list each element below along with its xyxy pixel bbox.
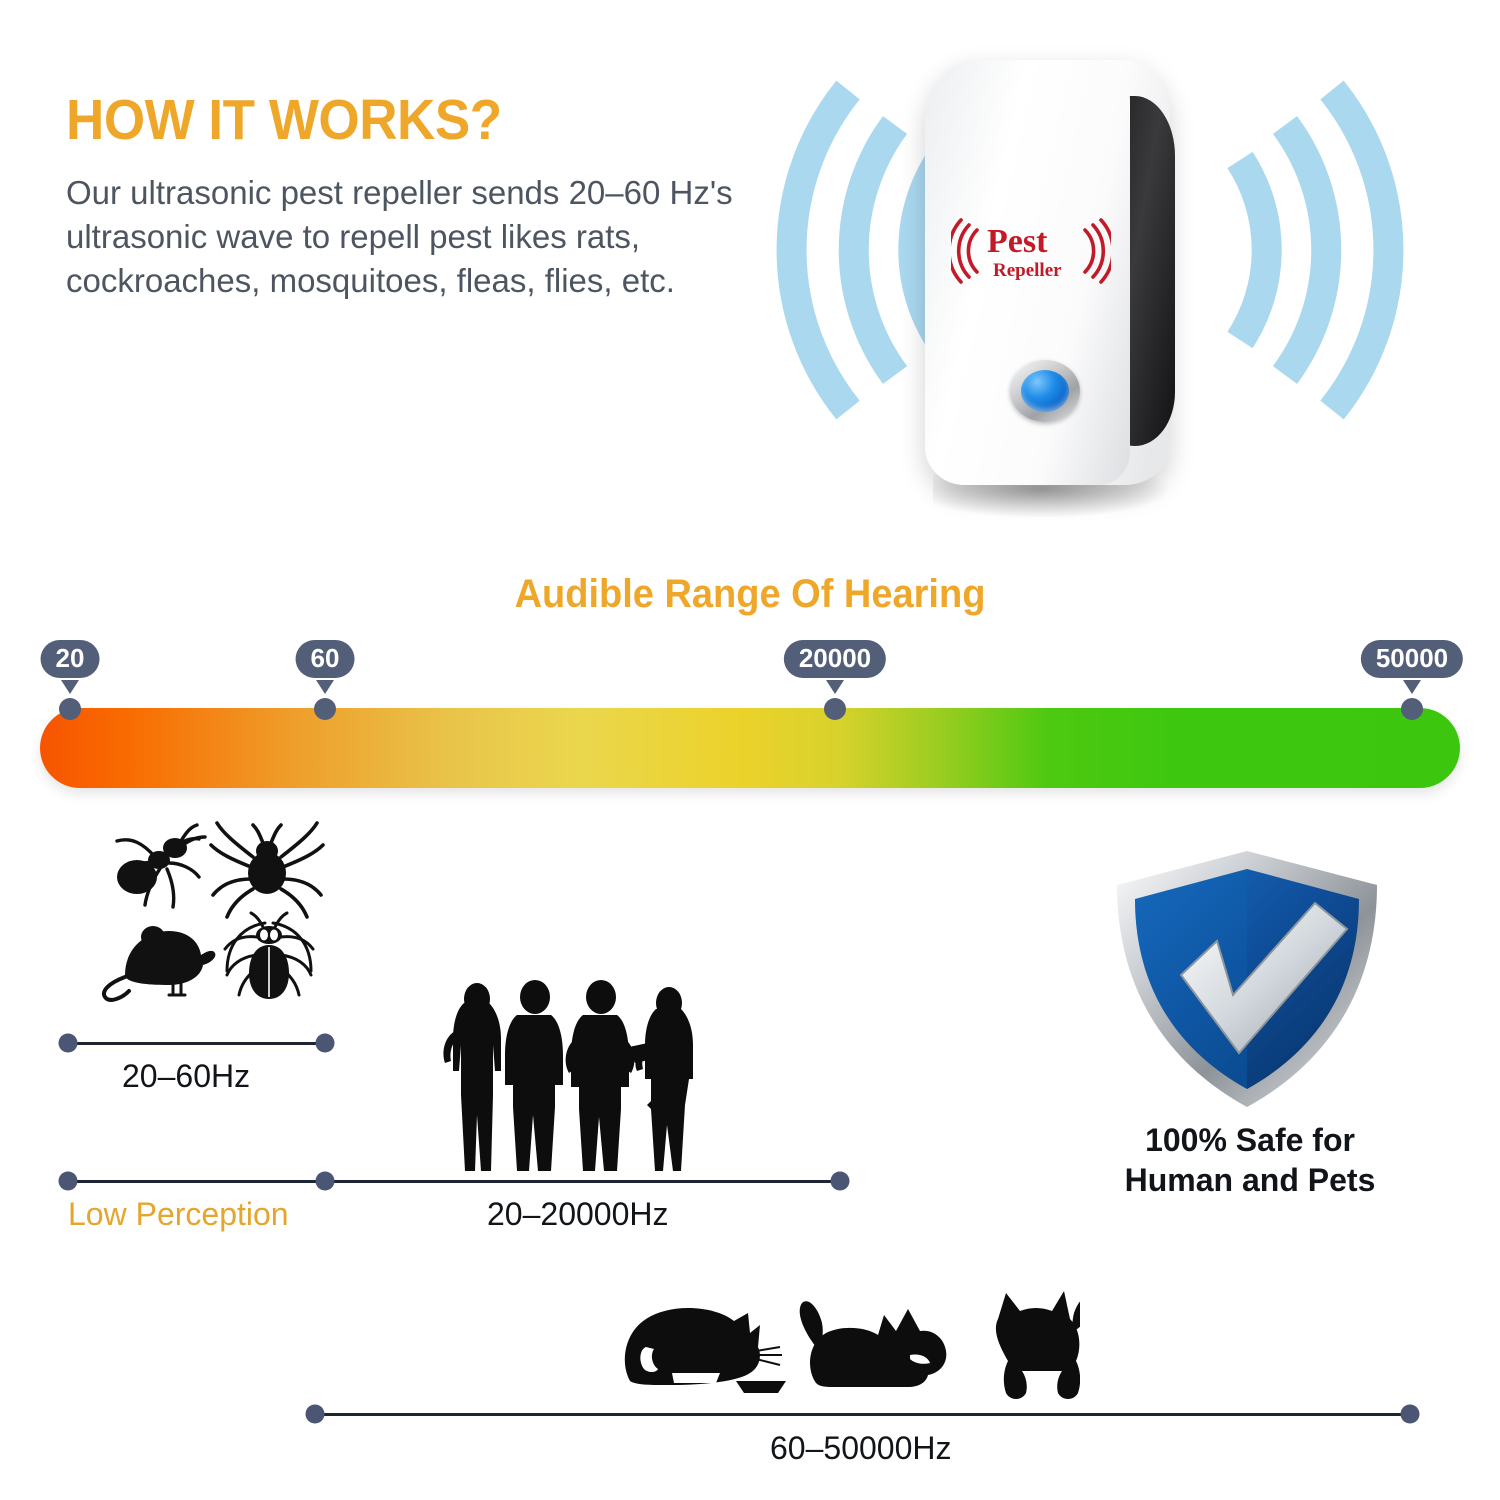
dog-lying-icon — [800, 1301, 947, 1387]
led-glass — [1021, 370, 1069, 412]
pest-repeller-logo: Pest Repeller — [951, 210, 1111, 290]
frequency-gradient-bar — [40, 708, 1460, 788]
spider-icon — [211, 823, 323, 917]
safety-line-2: Human and Pets — [1125, 1162, 1376, 1198]
mouse-icon — [104, 926, 215, 1000]
sound-wave-left-icon — [690, 40, 960, 460]
scale-tick-label: 20000 — [784, 640, 886, 678]
human-silhouettes-icon — [425, 975, 710, 1175]
ant-icon — [117, 825, 205, 907]
scale-tick-dot — [1401, 698, 1423, 720]
logo-primary-text: Pest — [987, 223, 1048, 260]
cat-standing-icon — [996, 1291, 1080, 1399]
person-woman-right — [629, 987, 693, 1171]
page-title: HOW IT WORKS? — [66, 92, 698, 149]
pest-repeller-device: Pest Repeller — [925, 60, 1190, 520]
scale-tick-pointer — [61, 680, 79, 694]
how-it-works-block: HOW IT WORKS? Our ultrasonic pest repell… — [66, 92, 746, 303]
safety-caption: 100% Safe for Human and Pets — [1060, 1120, 1440, 1200]
pet-silhouettes-icon — [610, 1285, 1080, 1410]
intro-paragraph: Our ultrasonic pest repeller sends 20–60… — [66, 171, 746, 303]
scale-tick-pointer — [826, 680, 844, 694]
scale-tick-label: 20 — [41, 640, 100, 678]
pest-silhouettes-icon — [95, 815, 345, 1005]
frequency-scale: 20 60 20000 50000 — [0, 640, 1500, 800]
cat-eating-icon — [625, 1308, 786, 1393]
person-man-center-right — [566, 980, 635, 1171]
range-label-humans: 20–20000Hz — [487, 1196, 668, 1233]
range-label-low-perception: Low Perception — [68, 1196, 289, 1233]
scale-tick-pointer — [316, 680, 334, 694]
scale-tick-label: 50000 — [1361, 640, 1463, 678]
scale-tick-dot — [824, 698, 846, 720]
scale-tick-pointer — [1403, 680, 1421, 694]
cockroach-icon — [225, 913, 313, 999]
logo-secondary-text: Repeller — [993, 260, 1062, 281]
sound-wave-right-icon — [1220, 40, 1490, 460]
person-man-center-left — [505, 980, 563, 1171]
scale-tick-label: 60 — [296, 640, 355, 678]
person-woman-left — [443, 983, 501, 1171]
range-label-pets: 60–50000Hz — [770, 1430, 951, 1467]
led-indicator-button[interactable] — [1010, 360, 1080, 422]
safety-shield-icon — [1105, 845, 1390, 1135]
device-illustration: Pest Repeller — [690, 40, 1490, 540]
range-label-pests: 20–60Hz — [122, 1058, 250, 1095]
scale-tick-dot — [59, 698, 81, 720]
safety-line-1: 100% Safe for — [1145, 1122, 1355, 1158]
scale-tick-dot — [314, 698, 336, 720]
audible-range-title: Audible Range Of Hearing — [38, 572, 1463, 617]
